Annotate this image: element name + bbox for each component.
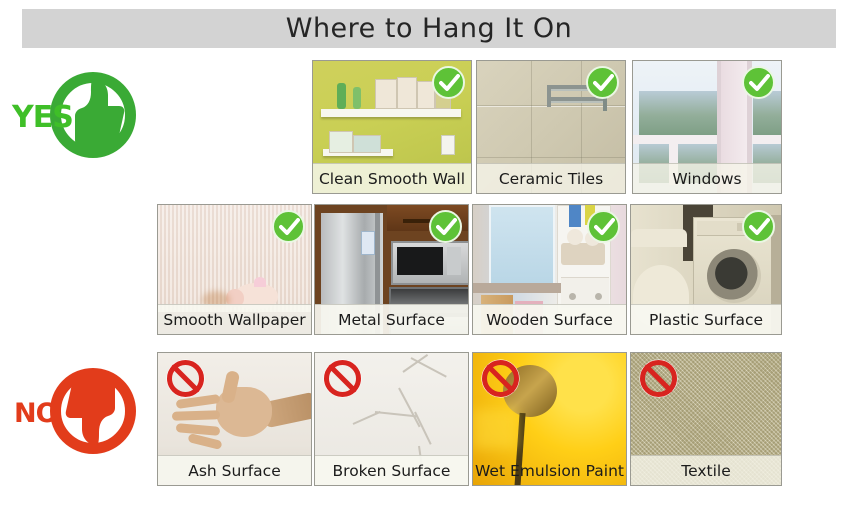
page-title-bar: Where to Hang It On: [22, 9, 836, 48]
surface-card-smooth-wallpaper[interactable]: Smooth Wallpaper: [157, 204, 312, 335]
green-check-icon: [272, 210, 305, 243]
card-caption: Smooth Wallpaper: [158, 304, 311, 334]
card-caption: Broken Surface: [315, 455, 468, 485]
surface-card-textile[interactable]: Textile: [630, 352, 782, 486]
surface-card-metal-surface[interactable]: Metal Surface: [314, 204, 469, 335]
surface-card-plastic-surface[interactable]: Plastic Surface: [630, 204, 782, 335]
card-caption: Plastic Surface: [631, 304, 781, 334]
red-prohibition-icon: [323, 359, 362, 398]
page-title: Where to Hang It On: [286, 13, 573, 44]
surface-card-broken-surface[interactable]: Broken Surface: [314, 352, 469, 486]
surface-card-clean-smooth-wall[interactable]: Clean Smooth Wall: [312, 60, 472, 194]
thumbs-down-icon: [64, 372, 126, 450]
green-check-icon: [586, 66, 619, 99]
card-caption: Wet Emulsion Paint: [473, 456, 626, 485]
thumbs-up-icon: [64, 76, 126, 154]
card-caption: Metal Surface: [315, 304, 468, 334]
verdict-badge-yes: YES: [6, 62, 146, 182]
green-check-icon: [742, 210, 775, 243]
red-prohibition-icon: [481, 359, 520, 398]
surface-card-windows[interactable]: Windows: [632, 60, 782, 194]
infographic-page: Where to Hang It On YES NO: [0, 0, 858, 506]
surface-card-ceramic-tiles[interactable]: Ceramic Tiles: [476, 60, 626, 194]
surface-card-wet-emulsion-paint[interactable]: Wet Emulsion Paint: [472, 352, 627, 486]
green-check-icon: [432, 66, 465, 99]
verdict-badge-no: NO: [6, 358, 146, 478]
verdict-label-no: NO: [14, 398, 58, 429]
red-prohibition-icon: [639, 359, 678, 398]
card-caption: Textile: [631, 455, 781, 485]
card-caption: Windows: [633, 163, 781, 193]
green-check-icon: [429, 210, 462, 243]
card-caption: Clean Smooth Wall: [313, 163, 471, 193]
card-caption: Ash Surface: [158, 455, 311, 485]
verdict-label-yes: YES: [12, 100, 73, 135]
green-check-icon: [587, 210, 620, 243]
card-caption: Ceramic Tiles: [477, 163, 625, 193]
card-caption: Wooden Surface: [473, 304, 626, 334]
surface-card-ash-surface[interactable]: Ash Surface: [157, 352, 312, 486]
red-prohibition-icon: [166, 359, 205, 398]
surface-card-wooden-surface[interactable]: Wooden Surface: [472, 204, 627, 335]
green-check-icon: [742, 66, 775, 99]
